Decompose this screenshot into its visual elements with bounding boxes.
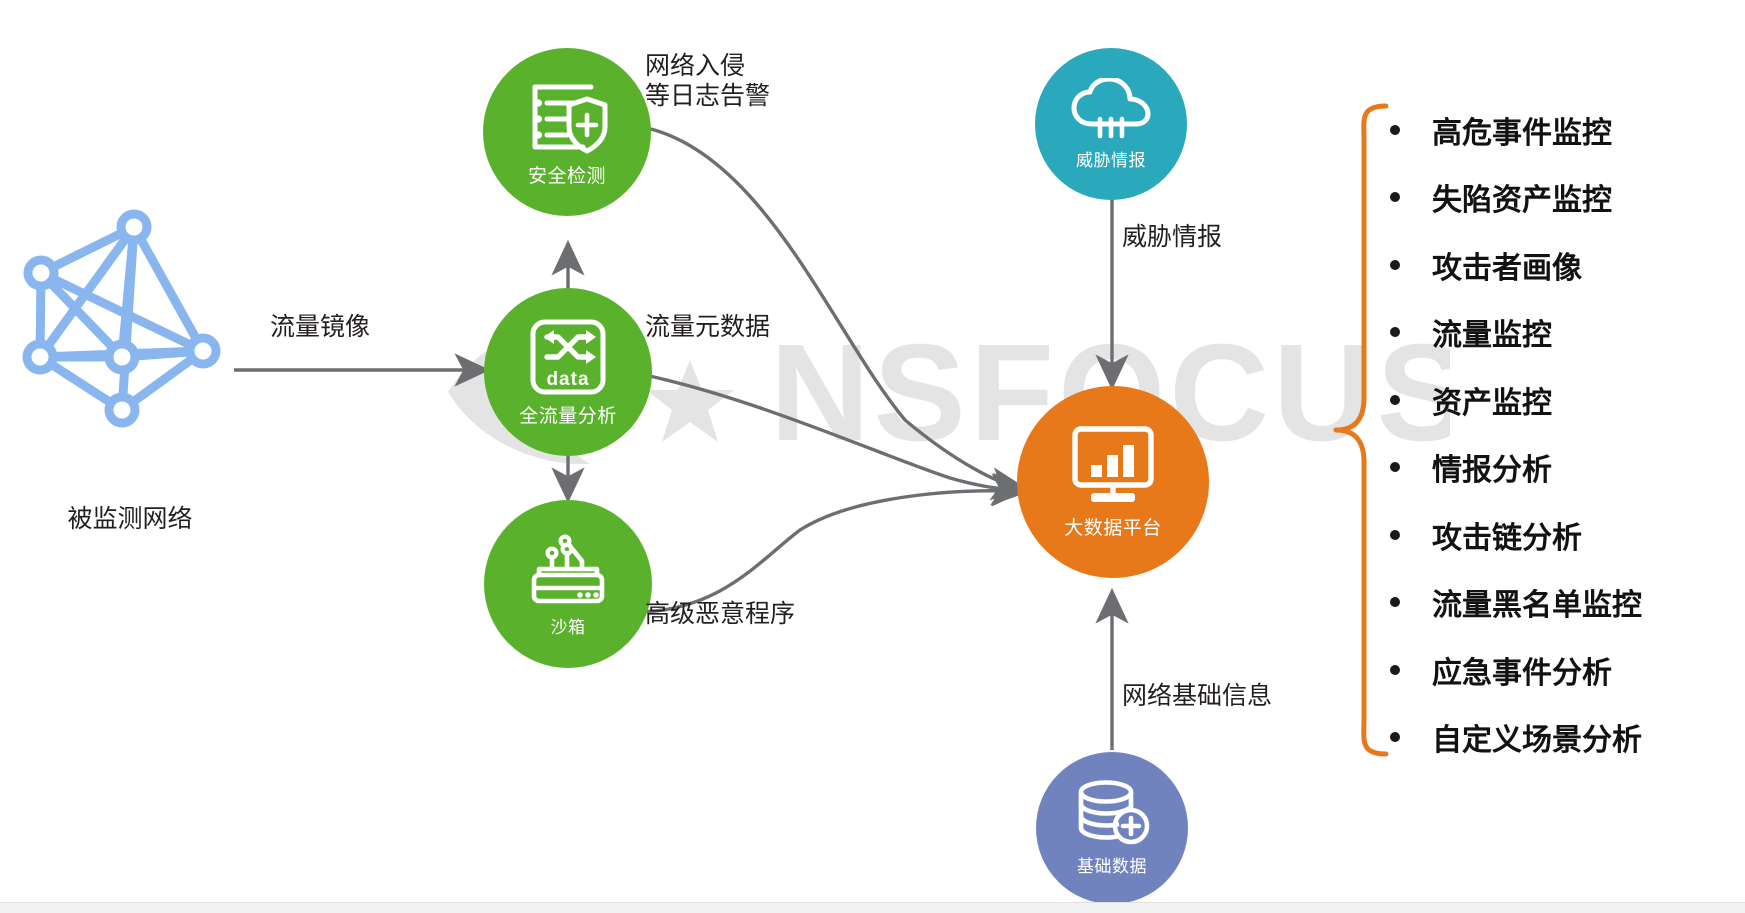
node-big-data-platform[interactable]: 大数据平台	[1017, 386, 1209, 578]
edge-label-threat-intel-feed: 威胁情报	[1122, 223, 1222, 253]
bullet-icon	[1390, 530, 1400, 540]
list-item[interactable]: 失陷资产监控	[1390, 164, 1730, 232]
edge-label-advanced-malware: 高级恶意程序	[645, 600, 795, 630]
node-label: 全流量分析	[519, 401, 617, 428]
list-item[interactable]: 攻击链分析	[1390, 501, 1730, 569]
list-item[interactable]: 自定义场景分析	[1390, 704, 1730, 772]
bullet-icon	[1390, 665, 1400, 675]
bullet-icon	[1390, 462, 1400, 472]
bullet-icon	[1390, 395, 1400, 405]
list-item[interactable]: 高危事件监控	[1390, 96, 1730, 164]
bottom-edge-strip	[0, 902, 1745, 913]
outcome-brace	[1330, 100, 1390, 760]
data-shuffle-icon: data	[528, 317, 608, 397]
outcome-label: 高危事件监控	[1432, 108, 1612, 152]
outcome-label: 流量黑名单监控	[1432, 580, 1642, 624]
outcome-label: 攻击链分析	[1432, 513, 1582, 557]
list-item[interactable]: 流量黑名单监控	[1390, 569, 1730, 637]
outcome-label: 情报分析	[1432, 445, 1552, 489]
edge-label-traffic-mirror: 流量镜像	[270, 313, 370, 343]
node-label: 威胁情报	[1076, 146, 1146, 171]
node-label: 大数据平台	[1064, 513, 1162, 540]
node-basic-data[interactable]: 基础数据	[1036, 752, 1188, 904]
monitored-network-graph-icon	[10, 205, 235, 435]
bullet-icon	[1390, 732, 1400, 742]
node-threat-intelligence[interactable]: 威胁情报	[1035, 48, 1187, 200]
outcome-label: 应急事件分析	[1432, 648, 1612, 692]
svg-text:data: data	[546, 369, 589, 390]
edge-label-intrusion-log-alerts: 网络入侵 等日志告警	[645, 52, 770, 111]
bullet-icon	[1390, 327, 1400, 337]
node-label: 安全检测	[528, 161, 606, 188]
diagram-canvas: NSFOCUS	[0, 0, 1745, 913]
monitored-network-label: 被监测网络	[40, 505, 220, 535]
node-label: 基础数据	[1077, 852, 1147, 877]
node-full-traffic-analysis[interactable]: data 全流量分析	[484, 288, 652, 456]
list-item[interactable]: 流量监控	[1390, 299, 1730, 367]
outcome-label: 自定义场景分析	[1432, 715, 1642, 759]
list-item[interactable]: 应急事件分析	[1390, 636, 1730, 704]
bullet-icon	[1390, 597, 1400, 607]
bullet-icon	[1390, 192, 1400, 202]
outcome-list: 高危事件监控 失陷资产监控 攻击者画像 流量监控 资产监控 情报分析 攻击链分析	[1390, 96, 1730, 771]
outcome-label: 流量监控	[1432, 310, 1552, 354]
sandbox-device-icon	[525, 531, 611, 609]
node-security-detection[interactable]: 安全检测	[483, 48, 651, 216]
database-plus-icon	[1073, 780, 1151, 848]
cloud-rain-icon	[1070, 78, 1152, 142]
list-item[interactable]: 情报分析	[1390, 434, 1730, 502]
document-shield-icon	[525, 77, 609, 157]
edge-label-network-basic-info: 网络基础信息	[1122, 682, 1272, 712]
outcome-label: 失陷资产监控	[1432, 175, 1612, 219]
bullet-icon	[1390, 260, 1400, 270]
node-sandbox[interactable]: 沙箱	[484, 500, 652, 668]
node-label: 沙箱	[551, 613, 586, 638]
list-item[interactable]: 资产监控	[1390, 366, 1730, 434]
outcome-label: 攻击者画像	[1432, 243, 1582, 287]
outcome-label: 资产监控	[1432, 378, 1552, 422]
monitor-bar-chart-icon	[1067, 425, 1159, 509]
edge-label-traffic-metadata: 流量元数据	[645, 313, 770, 343]
bullet-icon	[1390, 125, 1400, 135]
list-item[interactable]: 攻击者画像	[1390, 231, 1730, 299]
